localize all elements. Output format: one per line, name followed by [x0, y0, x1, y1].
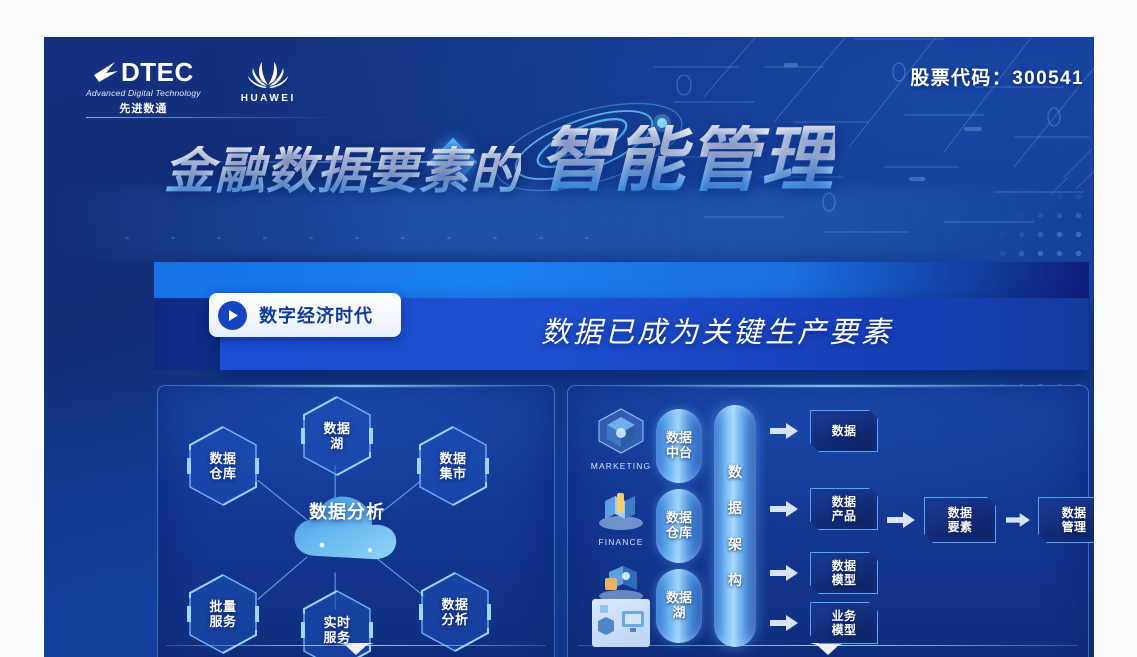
title-part-two: 智能管理 [539, 125, 835, 196]
source-label: FINANCE [590, 537, 652, 547]
panel-top-glow [599, 385, 1057, 387]
cloud-center-label: 数据分析 [304, 502, 390, 523]
arrow-right-icon [770, 565, 798, 581]
arrow-right-icon [770, 423, 798, 439]
data-architecture-bar[interactable]: 数 据 架 构 [714, 405, 756, 647]
dtec-chinese-name: 先进数通 [119, 100, 167, 116]
huawei-logo: HUAWEI [241, 59, 296, 104]
marketing-cube-icon [595, 407, 647, 455]
arch-char: 数 [728, 462, 742, 482]
output-box-data-product[interactable]: 数据产品 [810, 488, 878, 530]
arch-char: 据 [728, 498, 742, 518]
hex-node-data-analysis[interactable]: 数据分析 [418, 570, 492, 654]
banner-headline: 数据已成为关键生产要素 [541, 309, 893, 351]
cloud-shape-icon [288, 482, 404, 568]
dtec-wordmark: DTEC [121, 59, 194, 85]
loading-box-icon [595, 560, 647, 604]
section-badge[interactable]: 数字经济时代 [209, 293, 401, 337]
data-illustration-icon [592, 599, 650, 647]
dtec-logo: DTEC Advanced Digital Technology 先进数通 [86, 59, 201, 116]
arrow-right-icon [770, 615, 798, 631]
arch-char: 构 [728, 570, 742, 590]
arch-char: 架 [728, 534, 742, 554]
finance-chart-icon [595, 485, 647, 531]
play-circle-icon [218, 301, 247, 330]
arrow-right-icon [1006, 513, 1030, 527]
slide-canvas: DTEC Advanced Digital Technology 先进数通 HU… [44, 37, 1094, 657]
stage-box-data-management[interactable]: 数据管理 [1038, 497, 1094, 543]
huawei-flower-icon [246, 59, 290, 89]
huawei-wordmark: HUAWEI [241, 93, 296, 104]
dtec-mark-icon [93, 60, 119, 84]
hex-node-batch-service[interactable]: 批量服务 [186, 572, 260, 656]
stage-box-data-elements[interactable]: 数据要素 [924, 497, 996, 543]
dtec-tagline: Advanced Digital Technology [86, 88, 201, 98]
logo-group: DTEC Advanced Digital Technology 先进数通 HU… [86, 59, 296, 116]
source-marketing[interactable]: MARKETING [590, 407, 652, 471]
arrow-right-icon [887, 512, 915, 528]
capsule-data-lake[interactable]: 数据湖 [656, 569, 702, 643]
section-badge-label: 数字经济时代 [259, 302, 373, 328]
hex-node-data-warehouse[interactable]: 数据仓库 [186, 424, 260, 508]
capsule-data-warehouse[interactable]: 数据仓库 [656, 489, 702, 563]
source-finance[interactable]: FINANCE [590, 485, 652, 547]
stock-code-label: 股票代码：300541 [910, 63, 1084, 90]
logo-divider [86, 117, 336, 118]
title-part-one: 金融数据要素的 [164, 146, 521, 196]
dot-row-decoration [104, 233, 624, 243]
output-box-data-model[interactable]: 数据模型 [810, 552, 878, 594]
source-thumbnail-image [592, 599, 650, 647]
arrow-right-icon [770, 501, 798, 517]
output-box-data[interactable]: 数据 [810, 410, 878, 452]
hex-node-data-lake[interactable]: 数据湖 [300, 394, 374, 478]
main-title: 金融数据要素的 智能管理 [164, 125, 835, 196]
source-label: MARKETING [590, 461, 652, 471]
capsule-data-midend[interactable]: 数据中台 [656, 409, 702, 483]
output-box-business-model[interactable]: 业务模型 [810, 602, 878, 644]
hex-node-data-mart[interactable]: 数据集市 [416, 424, 490, 508]
